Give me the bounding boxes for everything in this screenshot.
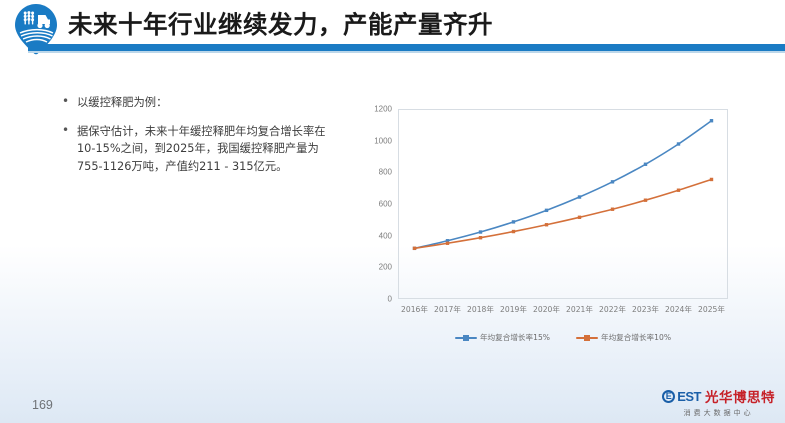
brand-subtitle: 消费大数据中心 <box>684 408 754 418</box>
y-axis-tick-label: 800 <box>379 168 392 177</box>
growth-forecast-chart: 020040060080010001200 2016年2017年2018年201… <box>360 86 760 361</box>
x-axis-tick-label: 2025年 <box>698 304 725 315</box>
list-item: 以缓控释肥为例： <box>62 94 342 112</box>
y-axis-tick-label: 400 <box>379 231 392 240</box>
page-title: 未来十年行业继续发力，产能产量齐升 <box>68 6 493 41</box>
chart-data-point[interactable] <box>677 142 680 145</box>
legend-line-marker-icon <box>576 333 598 342</box>
legend-label: 年均复合增长率10% <box>601 332 671 343</box>
header-accent-bar-shadow <box>28 51 785 53</box>
chart-series-layer <box>398 109 728 299</box>
y-axis-tick-label: 1200 <box>374 105 392 114</box>
y-axis-tick-label: 1000 <box>374 136 392 145</box>
chart-legend: 年均复合增长率15% 年均复合增长率10% <box>398 332 728 343</box>
chart-data-point[interactable] <box>644 199 647 202</box>
x-axis-tick-label: 2016年 <box>401 304 428 315</box>
chart-data-point[interactable] <box>479 236 482 239</box>
chart-data-point[interactable] <box>512 220 515 223</box>
brand-chinese-name: 光华博思特 <box>705 386 775 406</box>
x-axis-tick-label: 2018年 <box>467 304 494 315</box>
x-axis-tick-label: 2022年 <box>599 304 626 315</box>
x-axis-tick-label: 2021年 <box>566 304 593 315</box>
x-axis-tick-label: 2019年 <box>500 304 527 315</box>
y-axis-tick-label: 200 <box>379 263 392 272</box>
chart-data-point[interactable] <box>545 209 548 212</box>
x-axis-tick-label: 2023年 <box>632 304 659 315</box>
chart-x-axis: 2016年2017年2018年2019年2020年2021年2022年2023年… <box>398 304 728 320</box>
header-accent-bar <box>28 44 785 51</box>
legend-label: 年均复合增长率15% <box>480 332 550 343</box>
brand-mark-icon: E EST <box>662 389 701 404</box>
chart-line-series <box>415 121 712 249</box>
chart-y-axis: 020040060080010001200 <box>360 86 394 306</box>
bullet-list: 以缓控释肥为例： 据保守估计，未来十年缓控释肥年均复合增长率在10-15%之间，… <box>62 94 342 186</box>
page-number: 169 <box>32 398 53 412</box>
chart-data-point[interactable] <box>710 119 713 122</box>
legend-item[interactable]: 年均复合增长率10% <box>576 332 671 343</box>
chart-data-point[interactable] <box>545 223 548 226</box>
slide-header: 未来十年行业继续发力，产能产量齐升 <box>0 0 785 52</box>
legend-item[interactable]: 年均复合增长率15% <box>455 332 550 343</box>
chart-data-point[interactable] <box>479 230 482 233</box>
slide-canvas: 未来十年行业继续发力，产能产量齐升 以缓控释肥为例： 据保守估计，未来十年缓控释… <box>0 0 785 423</box>
legend-line-marker-icon <box>455 333 477 342</box>
chart-data-point[interactable] <box>710 178 713 181</box>
list-item: 据保守估计，未来十年缓控释肥年均复合增长率在10-15%之间，到2025年，我国… <box>62 123 342 176</box>
x-axis-tick-label: 2020年 <box>533 304 560 315</box>
brand-mark-letter: E <box>662 390 675 403</box>
chart-data-point[interactable] <box>578 216 581 219</box>
x-axis-tick-label: 2024年 <box>665 304 692 315</box>
chart-data-point[interactable] <box>446 242 449 245</box>
chart-data-point[interactable] <box>611 208 614 211</box>
chart-data-point[interactable] <box>677 189 680 192</box>
chart-data-point[interactable] <box>611 180 614 183</box>
y-axis-tick-label: 0 <box>388 295 392 304</box>
chart-data-point[interactable] <box>644 163 647 166</box>
y-axis-tick-label: 600 <box>379 200 392 209</box>
brand-latin-name: EST <box>677 389 701 404</box>
x-axis-tick-label: 2017年 <box>434 304 461 315</box>
chart-data-point[interactable] <box>512 230 515 233</box>
chart-data-point[interactable] <box>413 247 416 250</box>
brand-logo: E EST 光华博思特 消费大数据中心 <box>662 386 775 418</box>
chart-data-point[interactable] <box>578 195 581 198</box>
